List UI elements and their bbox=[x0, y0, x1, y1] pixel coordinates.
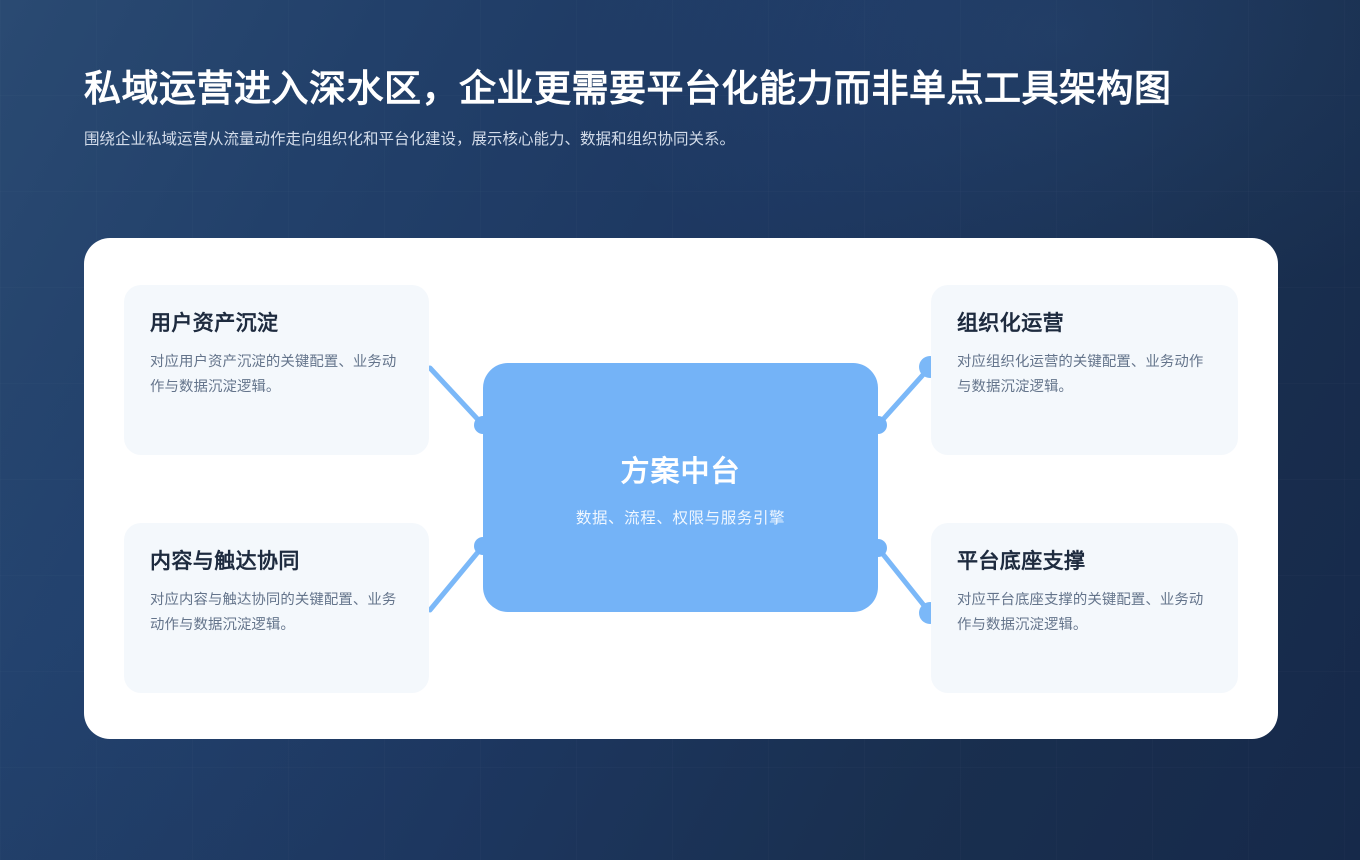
card-title: 内容与触达协同 bbox=[150, 549, 403, 574]
page-subtitle: 围绕企业私域运营从流量动作走向组织化和平台化建设，展示核心能力、数据和组织协同关… bbox=[84, 126, 844, 153]
card-description: 对应平台底座支撑的关键配置、业务动作与数据沉淀逻辑。 bbox=[957, 588, 1212, 638]
card-description: 对应组织化运营的关键配置、业务动作与数据沉淀逻辑。 bbox=[957, 350, 1212, 400]
connector-line-content-reach bbox=[430, 546, 483, 610]
card-title: 平台底座支撑 bbox=[957, 549, 1212, 574]
header: 私域运营进入深水区，企业更需要平台化能力而非单点工具架构图 围绕企业私域运营从流… bbox=[84, 66, 1284, 153]
connector-line-user-asset bbox=[430, 368, 483, 425]
card-organized-operation[interactable]: 组织化运营 对应组织化运营的关键配置、业务动作与数据沉淀逻辑。 bbox=[931, 285, 1238, 455]
connector-line-organized-operation bbox=[878, 367, 930, 425]
card-content-reach-collaboration[interactable]: 内容与触达协同 对应内容与触达协同的关键配置、业务动作与数据沉淀逻辑。 bbox=[124, 523, 429, 693]
hub-node-solution-center[interactable]: 方案中台 数据、流程、权限与服务引擎 bbox=[483, 363, 878, 612]
card-platform-foundation-support[interactable]: 平台底座支撑 对应平台底座支撑的关键配置、业务动作与数据沉淀逻辑。 bbox=[931, 523, 1238, 693]
card-user-asset-precipitation[interactable]: 用户资产沉淀 对应用户资产沉淀的关键配置、业务动作与数据沉淀逻辑。 bbox=[124, 285, 429, 455]
hub-subtitle: 数据、流程、权限与服务引擎 bbox=[576, 506, 785, 528]
card-description: 对应用户资产沉淀的关键配置、业务动作与数据沉淀逻辑。 bbox=[150, 350, 403, 400]
card-title: 用户资产沉淀 bbox=[150, 311, 403, 336]
diagram-panel: 用户资产沉淀 对应用户资产沉淀的关键配置、业务动作与数据沉淀逻辑。 组织化运营 … bbox=[84, 238, 1278, 739]
hub-title: 方案中台 bbox=[620, 448, 740, 490]
page-title: 私域运营进入深水区，企业更需要平台化能力而非单点工具架构图 bbox=[84, 66, 1284, 112]
card-title: 组织化运营 bbox=[957, 311, 1212, 336]
connector-line-platform-foundation bbox=[878, 548, 930, 613]
card-description: 对应内容与触达协同的关键配置、业务动作与数据沉淀逻辑。 bbox=[150, 588, 403, 638]
